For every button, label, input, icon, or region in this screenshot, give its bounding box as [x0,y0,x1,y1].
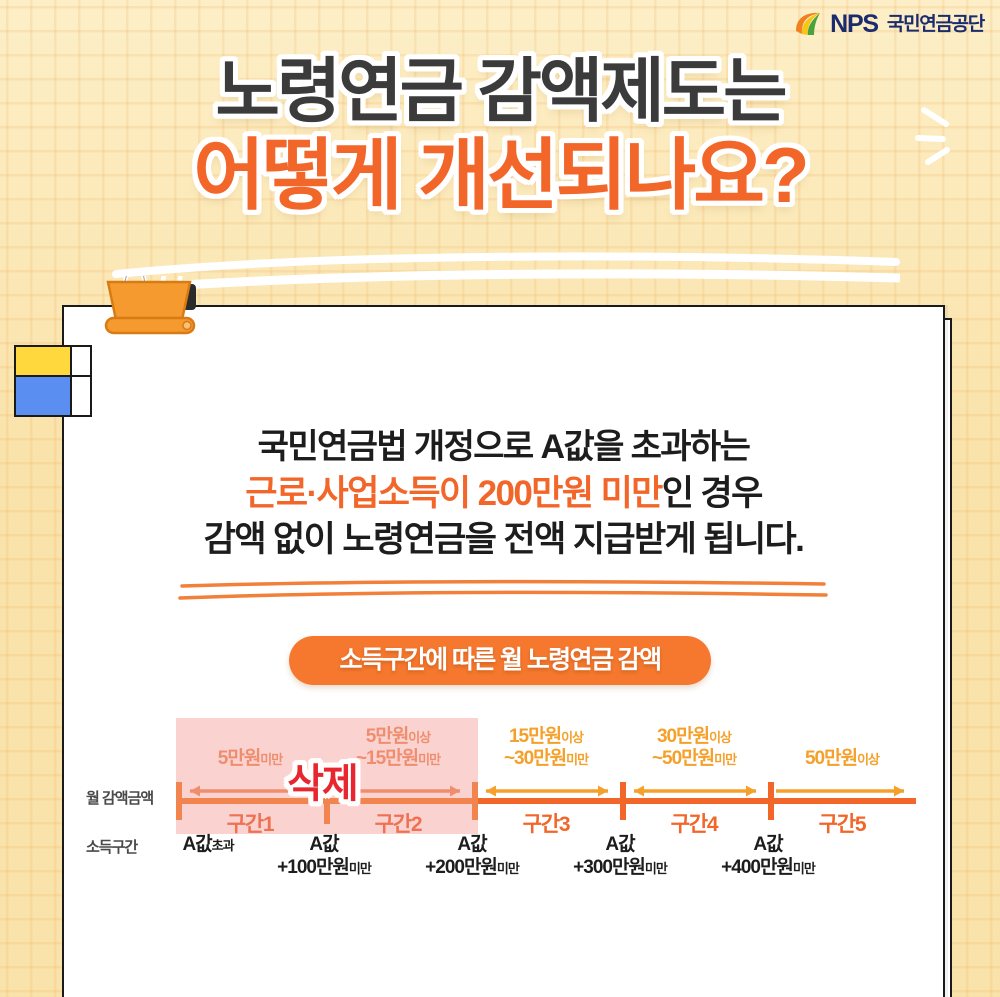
income-tier-4: A값 +300만원미만 [560,834,680,880]
sparkle-icon [912,98,972,168]
segment-5-arrow [772,784,914,798]
deleted-stamp: 삭제 [262,764,382,804]
axis-label-income-bracket: 소득구간 [86,836,137,857]
income-tier-2: A값 +100만원미만 [264,834,384,880]
income-tier-3: A값 +200만원미만 [412,834,532,880]
body-line-2-tail: 인 경우 [662,474,762,513]
logo-korean-name: 국민연금공단 [887,15,984,34]
infographic-canvas: NPS 국민연금공단 노령연금 감액제도는 어떻게 개선되나요? [0,0,1000,997]
body-line-3: 감액 없이 노령연금을 전액 지급받게 됩니다. [62,517,945,564]
logo-acronym: NPS [830,12,878,37]
segment-4-arrow [624,784,766,798]
blue-tab[interactable] [14,375,72,417]
body-copy: 국민연금법 개정으로 A값을 초과하는 근로·사업소득이 200만원 미만인 경… [62,425,945,564]
blue-tab-paper [70,375,92,417]
nps-logo: NPS 국민연금공단 [793,10,984,38]
body-line-1: 국민연금법 개정으로 A값을 초과하는 [62,425,945,471]
title-underline-decoration [110,248,900,298]
segment-5-reduction-label: 50만원이상 [768,748,916,770]
body-underline-decoration [178,578,828,604]
segment-3-reduction-label: 15만원이상 ~30만원미만 [472,726,620,770]
body-line-2: 근로·사업소득이 200만원 미만인 경우 [62,471,945,518]
body-line-2-highlight: 근로·사업소득이 200만원 미만 [245,474,662,513]
income-tier-5: A값 +400만원미만 [708,834,828,880]
segment-3-arrow [476,784,618,798]
title-line-1: 노령연금 감액제도는 [0,56,1000,126]
income-tier-1: A값초과 [148,834,268,857]
income-bracket-chart: 월 감액금액 소득구간 5만원미만 구간1 5만원이상 ~15만원미만 [0,700,1000,910]
segment-4-reduction-label: 30만원이상 ~50만원미만 [620,726,768,770]
nps-swoosh-icon [793,10,823,38]
section-pill: 소득구간에 따른 월 노령연금 감액 [289,636,711,685]
section-pill-label: 소득구간에 따른 월 노령연금 감액 [340,648,661,673]
axis-label-reduction-amount: 월 감액금액 [86,787,153,808]
title-line-2: 어떻게 개선되나요? [0,136,1000,214]
binder-clip-icon [94,276,206,340]
page-title: 노령연금 감액제도는 어떻게 개선되나요? [0,56,1000,214]
